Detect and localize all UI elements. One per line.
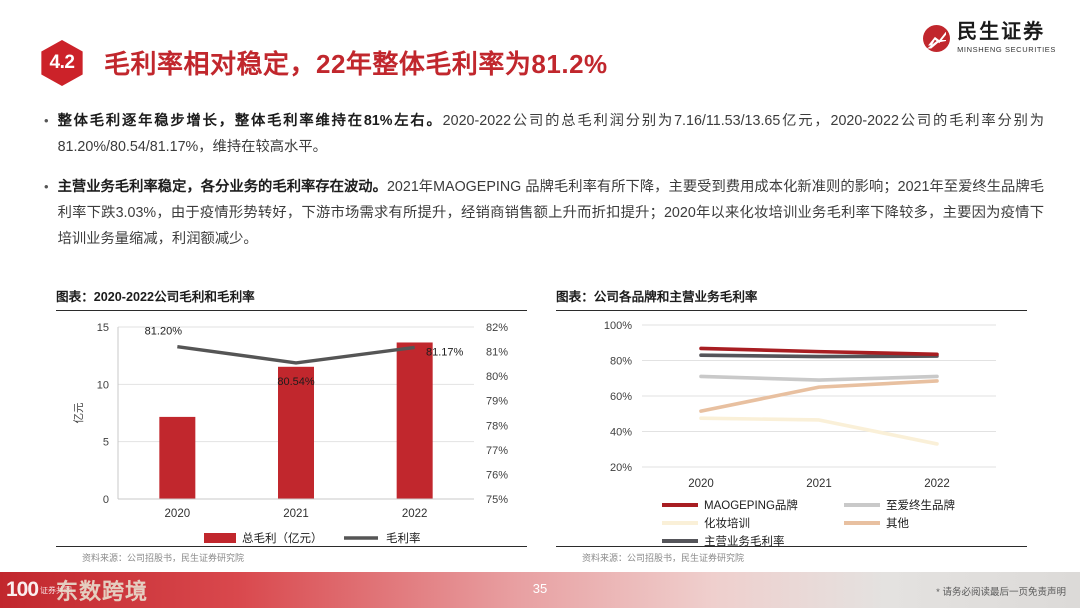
line-series: [701, 348, 937, 354]
legend-label: MAOGEPING品牌: [704, 498, 798, 512]
data-label: 80.54%: [277, 376, 315, 388]
y-axis-tick-label: 80%: [610, 356, 632, 368]
body-copy: • 整体毛利逐年稳步增长，整体毛利率维持在81%左右。2020-2022公司的总…: [44, 108, 1044, 266]
y2-axis-tick-label: 78%: [486, 420, 508, 432]
watermark-text: 东数跨境: [56, 574, 148, 606]
line-series: [701, 355, 937, 356]
bullet-item: • 主营业务毛利率稳定，各分业务的毛利率存在波动。2021年MAOGEPING …: [44, 174, 1044, 252]
legend-label: 主营业务毛利率: [704, 534, 785, 546]
bullet-text: 主营业务毛利率稳定，各分业务的毛利率存在波动。2021年MAOGEPING 品牌…: [58, 174, 1044, 252]
bullet-lead: 主营业务毛利率稳定，各分业务的毛利率存在波动。: [58, 179, 387, 195]
brand-name-cn: 民生证券: [957, 22, 1056, 42]
chart-source: 资料来源：公司招股书，民生证券研究院: [56, 547, 527, 564]
y-axis-title: 亿元: [72, 402, 85, 423]
brand-margins-chart-svg: 20%40%60%80%100%202020212022MAOGEPING品牌至…: [556, 311, 1027, 546]
chart-panel-gross-profit: 图表：2020-2022公司毛利和毛利率 05101575%76%77%78%7…: [56, 286, 527, 572]
slide-header: 4.2 毛利率相对稳定，22年整体毛利率为81.2% 民生证券 MINSHENG…: [0, 0, 1080, 100]
footer-disclaimer: * 请务必阅读最后一页免责声明: [936, 584, 1066, 598]
legend-label-line: 毛利率: [386, 531, 421, 545]
bullet-lead: 整体毛利逐年稳步增长，整体毛利率维持在81%左右。: [58, 113, 443, 129]
gross-profit-chart-svg: 05101575%76%77%78%79%80%81%82%亿元20202021…: [56, 311, 527, 546]
minsheng-logo-icon: [923, 25, 950, 52]
legend-label: 化妆培训: [704, 516, 750, 530]
y-axis-tick-label: 5: [103, 437, 109, 449]
legend-swatch-bar: [204, 533, 236, 543]
bullet-marker: •: [44, 174, 49, 252]
page-number: 35: [0, 581, 1080, 596]
chart-source: 资料来源：公司招股书，民生证券研究院: [556, 547, 1027, 564]
y-axis-tick-label: 20%: [610, 462, 632, 474]
page-title: 毛利率相对稳定，22年整体毛利率为81.2%: [104, 44, 608, 81]
bullet-marker: •: [44, 108, 49, 160]
y-axis-tick-label: 0: [103, 494, 109, 506]
bar: [159, 417, 195, 499]
chart-plot-area: 05101575%76%77%78%79%80%81%82%亿元20202021…: [56, 311, 527, 546]
line-series: [701, 376, 937, 380]
y-axis-tick-label: 100%: [604, 320, 632, 332]
x-axis-tick-label: 2021: [283, 508, 309, 520]
watermark-logo: 100: [6, 578, 38, 602]
chart-caption: 图表：2020-2022公司毛利和毛利率: [56, 286, 527, 310]
chart-caption: 图表：公司各品牌和主营业务毛利率: [556, 286, 1027, 310]
y2-axis-tick-label: 77%: [486, 445, 508, 457]
bar: [397, 342, 433, 499]
chart-panel-brand-margins: 图表：公司各品牌和主营业务毛利率 20%40%60%80%100%2020202…: [556, 286, 1027, 572]
brand-name-en: MINSHENG SECURITIES: [957, 45, 1056, 54]
x-axis-tick-label: 2022: [402, 508, 428, 520]
y2-axis-tick-label: 75%: [486, 494, 508, 506]
watermark: 100 证券共同 东数跨境: [6, 574, 148, 606]
x-axis-tick-label: 2020: [688, 478, 714, 490]
y-axis-tick-label: 60%: [610, 391, 632, 403]
y2-axis-tick-label: 80%: [486, 371, 508, 383]
section-number-text: 4.2: [50, 52, 75, 74]
data-label: 81.17%: [426, 346, 464, 358]
x-axis-tick-label: 2021: [806, 478, 832, 490]
y-axis-tick-label: 15: [97, 322, 109, 334]
y-axis-tick-label: 10: [97, 379, 109, 391]
y2-axis-tick-label: 76%: [486, 469, 508, 481]
x-axis-tick-label: 2022: [924, 478, 950, 490]
legend-label: 至爱终生品牌: [886, 498, 955, 512]
legend-label: 其他: [886, 517, 909, 530]
y-axis-tick-label: 40%: [610, 427, 632, 439]
y2-axis-tick-label: 79%: [486, 396, 508, 408]
slide-footer: 35 * 请务必阅读最后一页免责声明: [0, 572, 1080, 608]
y2-axis-tick-label: 82%: [486, 322, 508, 334]
x-axis-tick-label: 2020: [165, 508, 191, 520]
bullet-item: • 整体毛利逐年稳步增长，整体毛利率维持在81%左右。2020-2022公司的总…: [44, 108, 1044, 160]
line-series: [177, 347, 414, 363]
section-number-badge: 4.2: [38, 40, 86, 86]
bullet-text: 整体毛利逐年稳步增长，整体毛利率维持在81%左右。2020-2022公司的总毛利…: [58, 108, 1044, 160]
brand-logo: 民生证券 MINSHENG SECURITIES: [923, 22, 1056, 54]
legend-label-bar: 总毛利（亿元）: [242, 531, 323, 545]
data-label: 81.20%: [145, 326, 183, 338]
chart-plot-area: 20%40%60%80%100%202020212022MAOGEPING品牌至…: [556, 311, 1027, 546]
y2-axis-tick-label: 81%: [486, 347, 508, 359]
